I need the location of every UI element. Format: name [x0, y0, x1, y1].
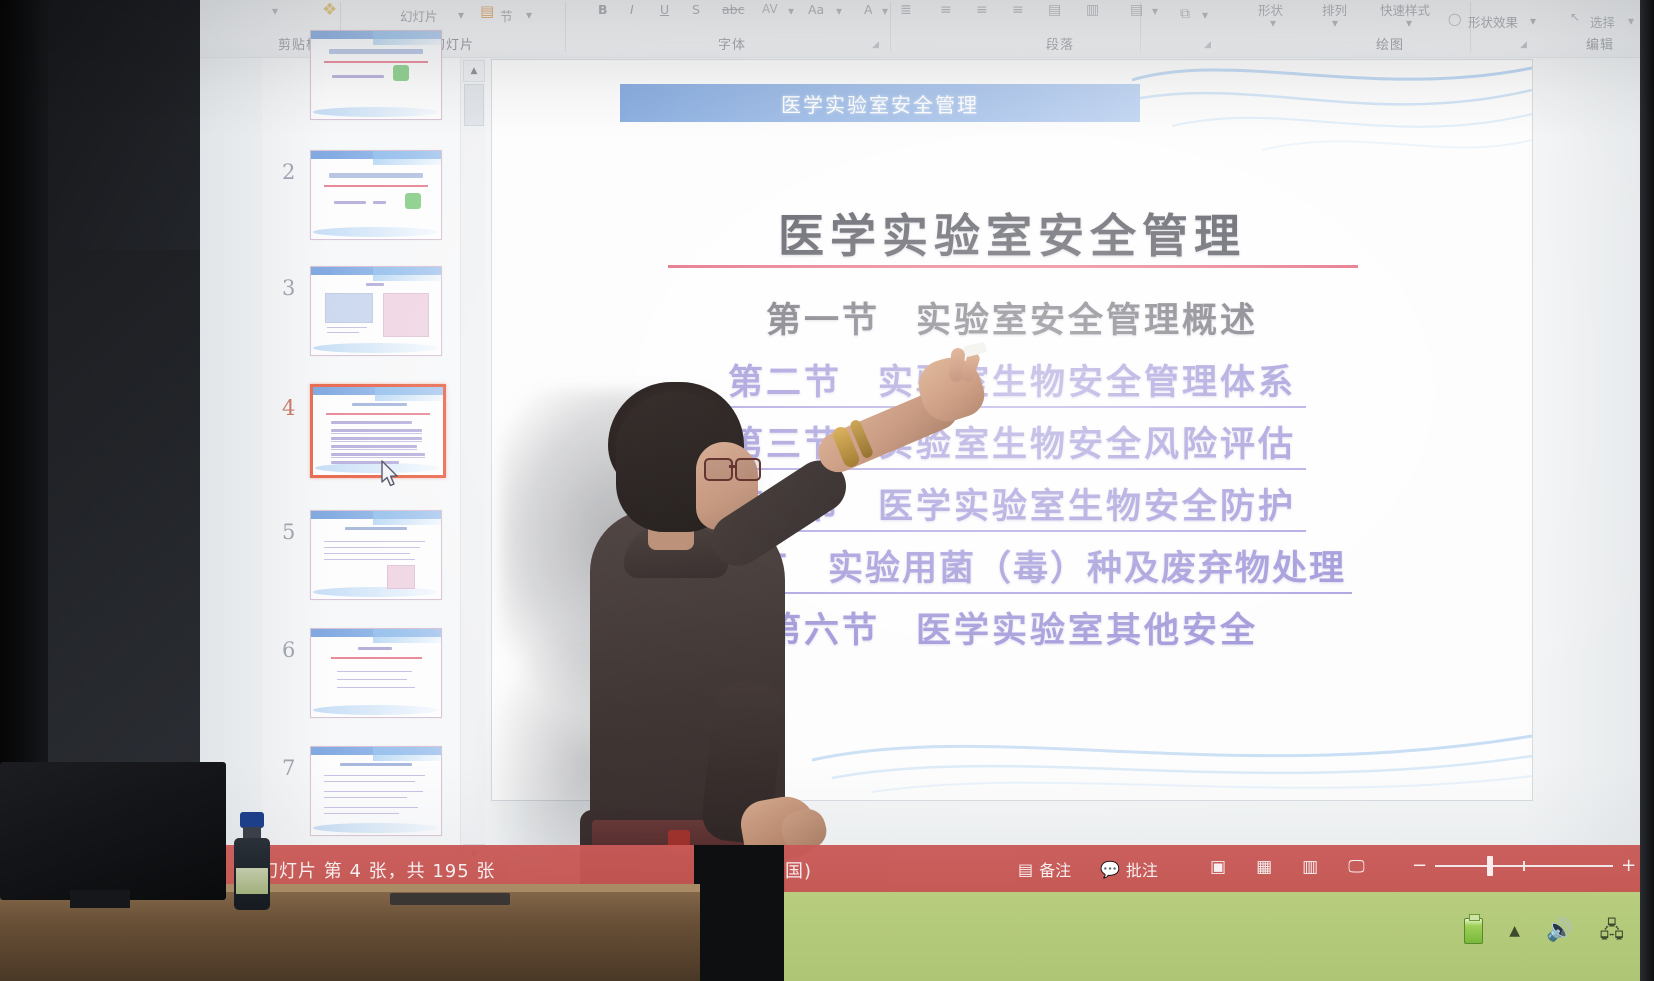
thumbnail-slide-4[interactable] [310, 384, 446, 478]
show-hidden-icons-icon[interactable]: ▲ [1509, 924, 1520, 938]
foreground-monitor [0, 762, 226, 900]
arrange-chevron-icon[interactable]: ▾ [1332, 16, 1338, 30]
shape-effects-chevron-icon[interactable]: ▾ [1530, 14, 1536, 28]
quickstyles-chevron-icon[interactable]: ▾ [1406, 16, 1412, 30]
bold-button[interactable]: B [598, 2, 608, 17]
character-spacing-chevron-icon[interactable]: ▾ [788, 4, 794, 18]
zoom-handle[interactable] [1487, 856, 1493, 876]
shape-effects-icon[interactable]: ◯ [1448, 12, 1461, 26]
presenter-pointer-object [963, 342, 987, 358]
drawing-dialog-launcher[interactable]: ◢ [1520, 40, 1527, 50]
thumbnail-slide-7[interactable] [310, 746, 442, 836]
zoom-track[interactable] [1435, 865, 1613, 867]
font-color-chevron-icon[interactable]: ▾ [882, 4, 888, 18]
presenter-glasses [704, 458, 766, 478]
thumbnail-slide-5[interactable] [310, 510, 442, 600]
smartart-chevron-icon[interactable]: ▾ [1152, 4, 1158, 18]
decorative-wave-top-right [1112, 60, 1532, 170]
ribbon-group-paragraph: 段落 [1046, 34, 1074, 53]
align-left-icon[interactable]: ≡ [940, 2, 952, 18]
thumbnail-number: 4 [282, 396, 295, 420]
shape-effects-button[interactable]: 形状效果 [1468, 12, 1518, 31]
network-icon[interactable]: 🖧 [1599, 920, 1624, 942]
view-mode-buttons[interactable]: ▣ ▦ ▥ 🖵 [1210, 857, 1365, 877]
thumbnail-number: 7 [282, 756, 295, 780]
slide-counter-text: 幻灯片 第 4 张，共 195 张 [260, 857, 495, 883]
wall-panel-lower [48, 250, 200, 790]
thumbnail-slide-6[interactable] [310, 628, 442, 718]
thumbnail-number: 2 [282, 160, 295, 184]
change-case-button[interactable]: Aa [808, 2, 824, 17]
reading-view-icon[interactable]: ▥ [1302, 857, 1318, 877]
paragraph-dialog-launcher[interactable]: ◢ [1204, 40, 1211, 50]
zoom-midpoint-tick [1523, 861, 1525, 871]
comments-button[interactable]: 💬 批注 [1100, 857, 1158, 881]
foreground-dark-object [694, 845, 784, 981]
comment-icon: 💬 [1100, 860, 1120, 879]
notes-button[interactable]: ▤ 备注 [1018, 857, 1071, 881]
scrollbar-thumb[interactable] [464, 84, 484, 126]
slide-thumbnail-panel[interactable]: 2 3 4 [262, 58, 467, 868]
slide-header-text: 医学实验室安全管理 [620, 84, 1140, 122]
keyboard [390, 893, 510, 905]
room-door [0, 0, 48, 790]
thumbnail-slide-2[interactable] [310, 150, 442, 240]
water-bottle [232, 812, 272, 910]
slide-sorter-icon[interactable]: ▦ [1256, 857, 1272, 877]
align-center-icon[interactable]: ≡ [976, 2, 988, 18]
zoom-in-button[interactable]: + [1621, 855, 1636, 876]
text-direction-icon[interactable]: ⧉ [1180, 6, 1190, 22]
smartart-icon[interactable]: ▤ [1130, 2, 1143, 18]
thumbnail-number: 5 [282, 520, 295, 544]
usb-icon[interactable] [1464, 918, 1483, 944]
zoom-slider[interactable]: − + [1412, 855, 1636, 876]
volume-icon[interactable]: 🔊 [1546, 920, 1573, 942]
columns-icon[interactable]: ▥ [1086, 2, 1099, 18]
comments-label: 批注 [1126, 857, 1158, 881]
font-color-button[interactable]: A [864, 2, 873, 17]
font-dialog-launcher[interactable]: ◢ [872, 40, 879, 50]
notes-label: 备注 [1039, 857, 1071, 881]
ribbon-group-font: 字体 [718, 34, 746, 53]
character-spacing-icon[interactable]: AV [762, 2, 778, 16]
scroll-up-icon[interactable]: ▲ [463, 60, 485, 82]
change-case-chevron-icon[interactable]: ▾ [836, 4, 842, 18]
section-dropdown[interactable]: 节 [500, 6, 513, 25]
shadow-button[interactable]: S [692, 2, 700, 17]
section-chevron-icon[interactable]: ▾ [526, 8, 532, 22]
text-direction-chevron-icon[interactable]: ▾ [1202, 8, 1208, 22]
bullets-icon[interactable]: ≣ [900, 2, 912, 18]
thumbnail-slide-3[interactable] [310, 266, 442, 356]
slide-title: 医学实验室安全管理 [492, 200, 1532, 266]
room-wall-right [1640, 0, 1654, 981]
screenshot-root: ▾ ❖ 剪贴板 ◢ 幻灯片 ▾ ▤ 节 ▾ 幻灯片 B I U S abc AV… [0, 0, 1654, 981]
thumbnail-slide-1[interactable] [310, 30, 442, 120]
zoom-out-button[interactable]: − [1412, 855, 1427, 876]
ribbon-group-drawing: 绘图 [1376, 34, 1404, 53]
paste-dropdown-icon[interactable]: ▾ [272, 4, 278, 18]
wall-panel-upper [48, 0, 200, 250]
ribbon-group-editing: 编辑 [1586, 34, 1614, 53]
select-chevron-icon[interactable]: ▾ [1628, 14, 1634, 28]
italic-button[interactable]: I [630, 2, 634, 17]
new-slide-chevron-icon[interactable]: ▾ [458, 8, 464, 22]
slideshow-icon[interactable]: 🖵 [1348, 857, 1364, 877]
thumbnail-number: 6 [282, 638, 295, 662]
system-tray[interactable]: ▲ 🔊 🖧 [1464, 918, 1624, 944]
shapes-chevron-icon[interactable]: ▾ [1270, 16, 1276, 30]
justify-icon[interactable]: ▤ [1048, 2, 1061, 18]
monitor-stand [70, 890, 130, 908]
section-icon[interactable]: ▤ [480, 2, 494, 20]
align-right-icon[interactable]: ≡ [1012, 2, 1024, 18]
select-button[interactable]: 选择 [1590, 12, 1615, 31]
notes-icon: ▤ [1018, 860, 1033, 879]
format-painter-icon[interactable]: ❖ [322, 0, 337, 20]
quickstyles-label[interactable]: 快速样式 [1380, 0, 1430, 19]
slide-header-band: 医学实验室安全管理 [620, 84, 1140, 122]
thumbnail-number: 3 [282, 276, 295, 300]
select-arrow-icon[interactable]: ↖ [1570, 10, 1580, 24]
underline-button[interactable]: U [660, 2, 669, 17]
new-slide-dropdown[interactable]: 幻灯片 [400, 6, 438, 25]
strikethrough-button[interactable]: abc [722, 2, 744, 17]
title-underline-rule [668, 265, 1358, 268]
normal-view-icon[interactable]: ▣ [1210, 857, 1226, 877]
